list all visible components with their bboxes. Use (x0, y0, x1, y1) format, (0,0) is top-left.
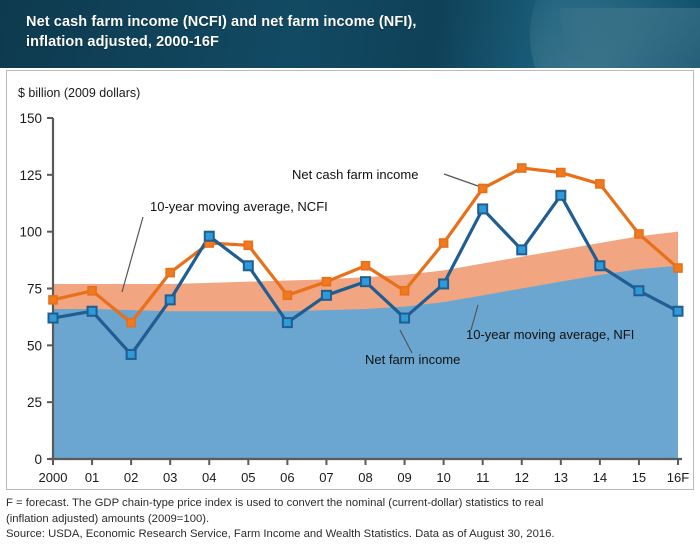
page-title: Net cash farm income (NCFI) and net farm… (26, 12, 417, 52)
header-banner: Net cash farm income (NCFI) and net farm… (0, 0, 700, 68)
y-axis-title: $ billion (2009 dollars) (18, 86, 140, 100)
page-title-line1: Net cash farm income (NCFI) and net farm… (26, 14, 417, 30)
page-title-line2: inflation adjusted, 2000-16F (26, 34, 219, 50)
header-swoosh-decoration-2 (560, 8, 700, 68)
chart-page: Net cash farm income (NCFI) and net farm… (0, 0, 700, 560)
footer-line-1: F = forecast. The GDP chain-type price i… (6, 496, 694, 512)
footer-notes: F = forecast. The GDP chain-type price i… (6, 496, 694, 543)
footer-line-2: (inflation adjusted) amounts (2009=100). (6, 512, 694, 528)
chart-frame (6, 70, 694, 490)
footer-line-3: Source: USDA, Economic Research Service,… (6, 527, 694, 543)
